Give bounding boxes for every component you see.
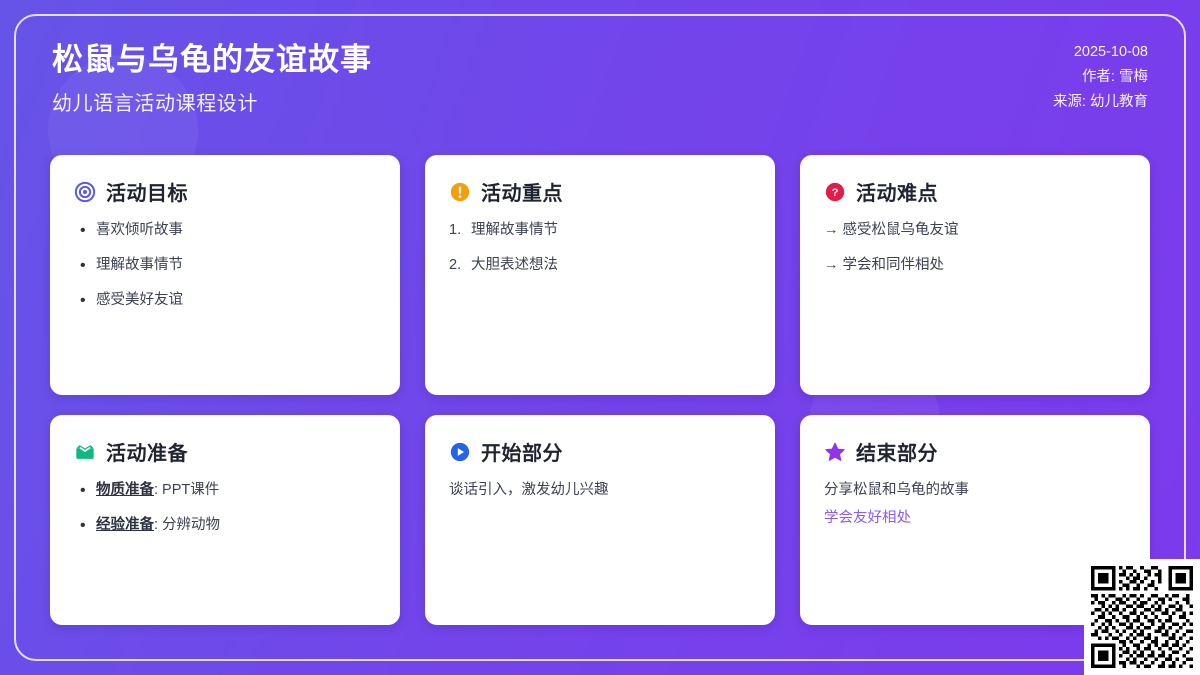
card-title: 活动准备 bbox=[106, 437, 188, 466]
card-header: 活动目标 bbox=[74, 177, 376, 206]
qr-code[interactable] bbox=[1084, 559, 1200, 675]
slide-root: 松鼠与乌龟的友谊故事 幼儿语言活动课程设计 2025-10-08 作者: 雪梅 … bbox=[0, 0, 1200, 675]
list-item: 物质准备: PPT课件 bbox=[74, 480, 376, 502]
item-label: 经验准备 bbox=[96, 517, 154, 533]
list-item-accent: 学会友好相处 bbox=[824, 508, 1126, 530]
list-item: 分享松鼠和乌龟的故事 bbox=[824, 480, 1126, 502]
preparation-list: 物质准备: PPT课件 经验准备: 分辨动物 bbox=[74, 480, 376, 537]
card-opening-section[interactable]: 开始部分 谈话引入，激发幼儿兴趣 bbox=[425, 415, 775, 625]
target-icon bbox=[74, 181, 96, 203]
card-activity-preparation[interactable]: 活动准备 物质准备: PPT课件 经验准备: 分辨动物 bbox=[50, 415, 400, 625]
page-subtitle: 幼儿语言活动课程设计 bbox=[52, 87, 372, 116]
card-header: 开始部分 bbox=[449, 437, 751, 466]
focus-list: 理解故事情节 大胆表述想法 bbox=[449, 220, 751, 277]
card-header: 结束部分 bbox=[824, 437, 1126, 466]
goal-list: 喜欢倾听故事 理解故事情节 感受美好友谊 bbox=[74, 220, 376, 311]
svg-text:?: ? bbox=[832, 187, 839, 199]
slide-header: 松鼠与乌龟的友谊故事 幼儿语言活动课程设计 2025-10-08 作者: 雪梅 … bbox=[52, 40, 1148, 116]
list-item: 经验准备: 分辨动物 bbox=[74, 515, 376, 537]
card-activity-difficulty[interactable]: ? 活动难点 → 感受松鼠乌龟友谊 → 学会和同伴相处 bbox=[800, 155, 1150, 395]
list-item: 谈话引入，激发幼儿兴趣 bbox=[449, 480, 751, 502]
meta-block: 2025-10-08 作者: 雪梅 来源: 幼儿教育 bbox=[1053, 40, 1148, 115]
warning-circle-icon bbox=[449, 181, 471, 203]
page-title: 松鼠与乌龟的友谊故事 bbox=[52, 40, 372, 81]
package-icon bbox=[74, 441, 96, 463]
list-item: 感受美好友谊 bbox=[74, 290, 376, 312]
card-activity-goals[interactable]: 活动目标 喜欢倾听故事 理解故事情节 感受美好友谊 bbox=[50, 155, 400, 395]
card-header: ? 活动难点 bbox=[824, 177, 1126, 206]
opening-content: 谈话引入，激发幼儿兴趣 bbox=[449, 480, 751, 502]
list-item: 理解故事情节 bbox=[74, 255, 376, 277]
list-item: 理解故事情节 bbox=[449, 220, 751, 242]
card-header: 活动重点 bbox=[449, 177, 751, 206]
item-value: : 分辨动物 bbox=[154, 517, 220, 533]
card-title: 活动重点 bbox=[481, 177, 563, 206]
card-title: 结束部分 bbox=[856, 437, 938, 466]
list-item: 大胆表述想法 bbox=[449, 255, 751, 277]
card-title: 活动目标 bbox=[106, 177, 188, 206]
list-item: → 感受松鼠乌龟友谊 bbox=[824, 220, 1126, 242]
card-title: 开始部分 bbox=[481, 437, 563, 466]
cards-grid: 活动目标 喜欢倾听故事 理解故事情节 感受美好友谊 活动重点 理解故事情节 大胆… bbox=[50, 155, 1150, 625]
difficulty-list: → 感受松鼠乌龟友谊 → 学会和同伴相处 bbox=[824, 220, 1126, 277]
list-item: → 学会和同伴相处 bbox=[824, 255, 1126, 277]
question-circle-icon: ? bbox=[824, 181, 846, 203]
qr-code-image bbox=[1091, 566, 1193, 668]
card-activity-focus[interactable]: 活动重点 理解故事情节 大胆表述想法 bbox=[425, 155, 775, 395]
card-title: 活动难点 bbox=[856, 177, 938, 206]
item-value: : PPT课件 bbox=[154, 482, 219, 498]
star-icon bbox=[824, 441, 846, 463]
meta-author: 作者: 雪梅 bbox=[1053, 65, 1148, 90]
meta-date: 2025-10-08 bbox=[1053, 40, 1148, 65]
item-label: 物质准备 bbox=[96, 482, 154, 498]
closing-content: 分享松鼠和乌龟的故事 学会友好相处 bbox=[824, 480, 1126, 530]
list-item: 喜欢倾听故事 bbox=[74, 220, 376, 242]
meta-source: 来源: 幼儿教育 bbox=[1053, 90, 1148, 115]
title-block: 松鼠与乌龟的友谊故事 幼儿语言活动课程设计 bbox=[52, 40, 372, 116]
card-header: 活动准备 bbox=[74, 437, 376, 466]
play-circle-icon bbox=[449, 441, 471, 463]
